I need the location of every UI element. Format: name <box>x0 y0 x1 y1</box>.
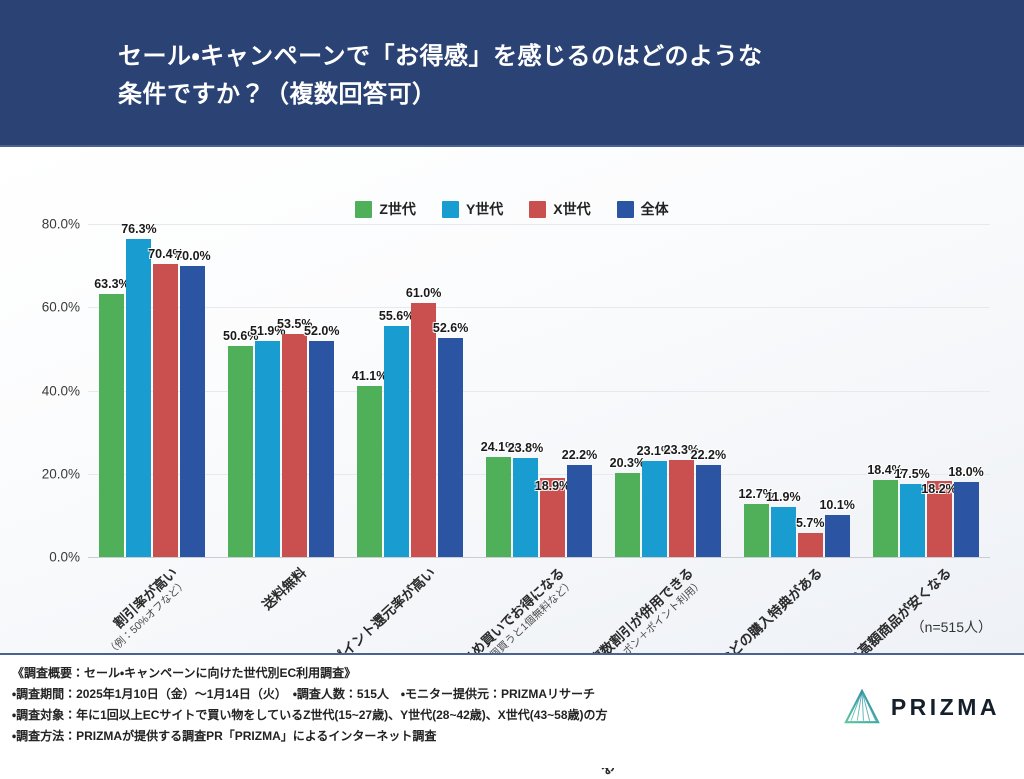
bar-column[interactable]: 24.1% <box>486 224 511 557</box>
bar[interactable] <box>357 386 382 557</box>
chart-legend: Z世代Y世代X世代全体 <box>0 199 1024 219</box>
gridline <box>88 557 990 558</box>
bar-column[interactable]: 63.3% <box>99 224 124 557</box>
bar-column[interactable]: 18.0% <box>954 224 979 557</box>
bar-group: 18.4%17.5%18.2%18.0% <box>861 224 990 557</box>
y-axis-tick-label: 20.0% <box>8 466 80 481</box>
bar[interactable] <box>255 341 280 557</box>
bar[interactable] <box>798 533 823 557</box>
bar-column[interactable]: 23.8% <box>513 224 538 557</box>
bar-group: 12.7%11.9%5.7%10.1% <box>732 224 861 557</box>
y-axis-tick-label: 80.0% <box>8 217 80 232</box>
legend-item-3[interactable]: X世代 <box>529 199 590 219</box>
bar-value-label: 41.1% <box>352 369 387 383</box>
prizma-logo: PRIZMA <box>843 689 1000 725</box>
bar-value-label: 5.7% <box>796 516 825 530</box>
y-axis-tick-label: 60.0% <box>8 300 80 315</box>
x-axis-category-label: 割引率が高い（例：50%オフなど） <box>94 565 191 659</box>
bar-value-label: 70.0% <box>175 249 210 263</box>
footer-panel: 《調査概要：セール・キャンペーンに向けた世代別EC利用調査》・調査期間：2025… <box>0 653 1024 768</box>
bar-column[interactable]: 70.0% <box>180 224 205 557</box>
page-title: セール・キャンペーンで「お得感」を感じるのはどのような 条件ですか？（複数回答可… <box>118 38 948 114</box>
bar[interactable] <box>411 303 436 557</box>
bar-value-label: 55.6% <box>379 309 414 323</box>
footer-line: ・調査方法：PRIZMAが提供する調査PR「PRIZMA」によるインターネット調… <box>12 726 862 747</box>
bar-column[interactable]: 11.9% <box>771 224 796 557</box>
bar-column[interactable]: 76.3% <box>126 224 151 557</box>
bar-column[interactable]: 12.7% <box>744 224 769 557</box>
bar-column[interactable]: 20.3% <box>615 224 640 557</box>
legend-label: 全体 <box>641 199 669 219</box>
prizma-triangle-logo-icon <box>843 689 881 725</box>
y-axis-labels: 0.0%20.0%40.0%60.0%80.0% <box>8 224 80 557</box>
bar-column[interactable]: 50.6% <box>228 224 253 557</box>
bar-column[interactable]: 18.2% <box>927 224 952 557</box>
slide-root: セール・キャンペーンで「お得感」を感じるのはどのような 条件ですか？（複数回答可… <box>0 0 1024 768</box>
legend-label: Z世代 <box>379 199 416 219</box>
bar-value-label: 18.9% <box>535 479 570 493</box>
bar-group: 63.3%76.3%70.4%70.0% <box>88 224 217 557</box>
bar[interactable] <box>486 457 511 557</box>
bar-value-label: 18.0% <box>948 465 983 479</box>
bar[interactable] <box>873 480 898 557</box>
plot-area: 63.3%76.3%70.4%70.0%50.6%51.9%53.5%52.0%… <box>88 224 990 557</box>
bar-value-label: 18.2% <box>921 482 956 496</box>
legend-item-2[interactable]: Y世代 <box>442 199 503 219</box>
bar-column[interactable]: 17.5% <box>900 224 925 557</box>
bar-value-label: 76.3% <box>121 222 156 236</box>
bar[interactable] <box>438 338 463 557</box>
bar[interactable] <box>669 460 694 557</box>
bar-group: 50.6%51.9%53.5%52.0% <box>217 224 346 557</box>
bar[interactable] <box>513 458 538 557</box>
bar[interactable] <box>744 504 769 557</box>
bar-column[interactable]: 52.0% <box>309 224 334 557</box>
bar-column[interactable]: 18.4% <box>873 224 898 557</box>
bar-column[interactable]: 18.9% <box>540 224 565 557</box>
chart-panel: Z世代Y世代X世代全体 0.0%20.0%40.0%60.0%80.0% 63.… <box>0 145 1024 653</box>
bar[interactable] <box>282 334 307 557</box>
x-axis-category-label: 送料無料 <box>260 565 311 614</box>
bar[interactable] <box>954 482 979 557</box>
bar[interactable] <box>180 266 205 557</box>
legend-label: X世代 <box>553 199 590 219</box>
bar-value-label: 61.0% <box>406 286 441 300</box>
legend-swatch-icon <box>617 201 634 218</box>
bar[interactable] <box>696 465 721 557</box>
bar-group: 24.1%23.8%18.9%22.2% <box>475 224 604 557</box>
bar[interactable] <box>615 473 640 557</box>
bar-column[interactable]: 22.2% <box>567 224 592 557</box>
bar-value-label: 52.6% <box>433 321 468 335</box>
bar-column[interactable]: 10.1% <box>825 224 850 557</box>
legend-swatch-icon <box>442 201 459 218</box>
bar-group: 41.1%55.6%61.0%52.6% <box>346 224 475 557</box>
legend-label: Y世代 <box>466 199 503 219</box>
footer-line: ・調査期間：2025年1月10日（金）〜1月14日（火） ・調査人数：515人 … <box>12 684 862 705</box>
bar-value-label: 23.8% <box>508 441 543 455</box>
bar-column[interactable]: 23.3% <box>669 224 694 557</box>
y-axis-tick-label: 0.0% <box>8 550 80 565</box>
bar-column[interactable]: 23.1% <box>642 224 667 557</box>
bar-value-label: 17.5% <box>894 467 929 481</box>
bar-value-label: 11.9% <box>766 490 801 504</box>
bar-column[interactable]: 61.0% <box>411 224 436 557</box>
bar-group: 20.3%23.1%23.3%22.2% <box>603 224 732 557</box>
legend-swatch-icon <box>529 201 546 218</box>
bar[interactable] <box>153 264 178 557</box>
bar-value-label: 22.2% <box>562 448 597 462</box>
bar[interactable] <box>771 507 796 557</box>
bar-value-label: 63.3% <box>94 277 129 291</box>
bar[interactable] <box>228 346 253 557</box>
bar-column[interactable]: 41.1% <box>357 224 382 557</box>
legend-swatch-icon <box>355 201 372 218</box>
bar-column[interactable]: 53.5% <box>282 224 307 557</box>
survey-overview-text: 《調査概要：セール・キャンペーンに向けた世代別EC利用調査》・調査期間：2025… <box>12 663 862 747</box>
legend-item-4[interactable]: 全体 <box>617 199 669 219</box>
bar[interactable] <box>825 515 850 557</box>
bar-value-label: 10.1% <box>819 498 854 512</box>
footer-line: ・調査対象：年に1回以上ECサイトで買い物をしているZ世代(15~27歳)、Y世… <box>12 705 862 726</box>
bar[interactable] <box>642 461 667 557</box>
bar-column[interactable]: 52.6% <box>438 224 463 557</box>
bar[interactable] <box>99 294 124 557</box>
bar[interactable] <box>384 326 409 557</box>
header-banner: セール・キャンペーンで「お得感」を感じるのはどのような 条件ですか？（複数回答可… <box>0 0 1024 145</box>
bar-column[interactable]: 55.6% <box>384 224 409 557</box>
bar-column[interactable]: 51.9% <box>255 224 280 557</box>
footer-line: 《調査概要：セール・キャンペーンに向けた世代別EC利用調査》 <box>12 663 862 684</box>
x-axis-category-main: 送料無料 <box>260 565 311 614</box>
bar-column[interactable]: 70.4% <box>153 224 178 557</box>
legend-item-1[interactable]: Z世代 <box>355 199 416 219</box>
prizma-logo-text: PRIZMA <box>891 694 1000 721</box>
bar-value-label: 22.2% <box>691 448 726 462</box>
bar[interactable] <box>309 341 334 557</box>
bar-column[interactable]: 22.2% <box>696 224 721 557</box>
y-axis-tick-label: 40.0% <box>8 383 80 398</box>
bar[interactable] <box>567 465 592 557</box>
bar[interactable] <box>126 239 151 557</box>
sample-size-annotation: （n=515人） <box>911 617 992 637</box>
bar-value-label: 52.0% <box>304 324 339 338</box>
